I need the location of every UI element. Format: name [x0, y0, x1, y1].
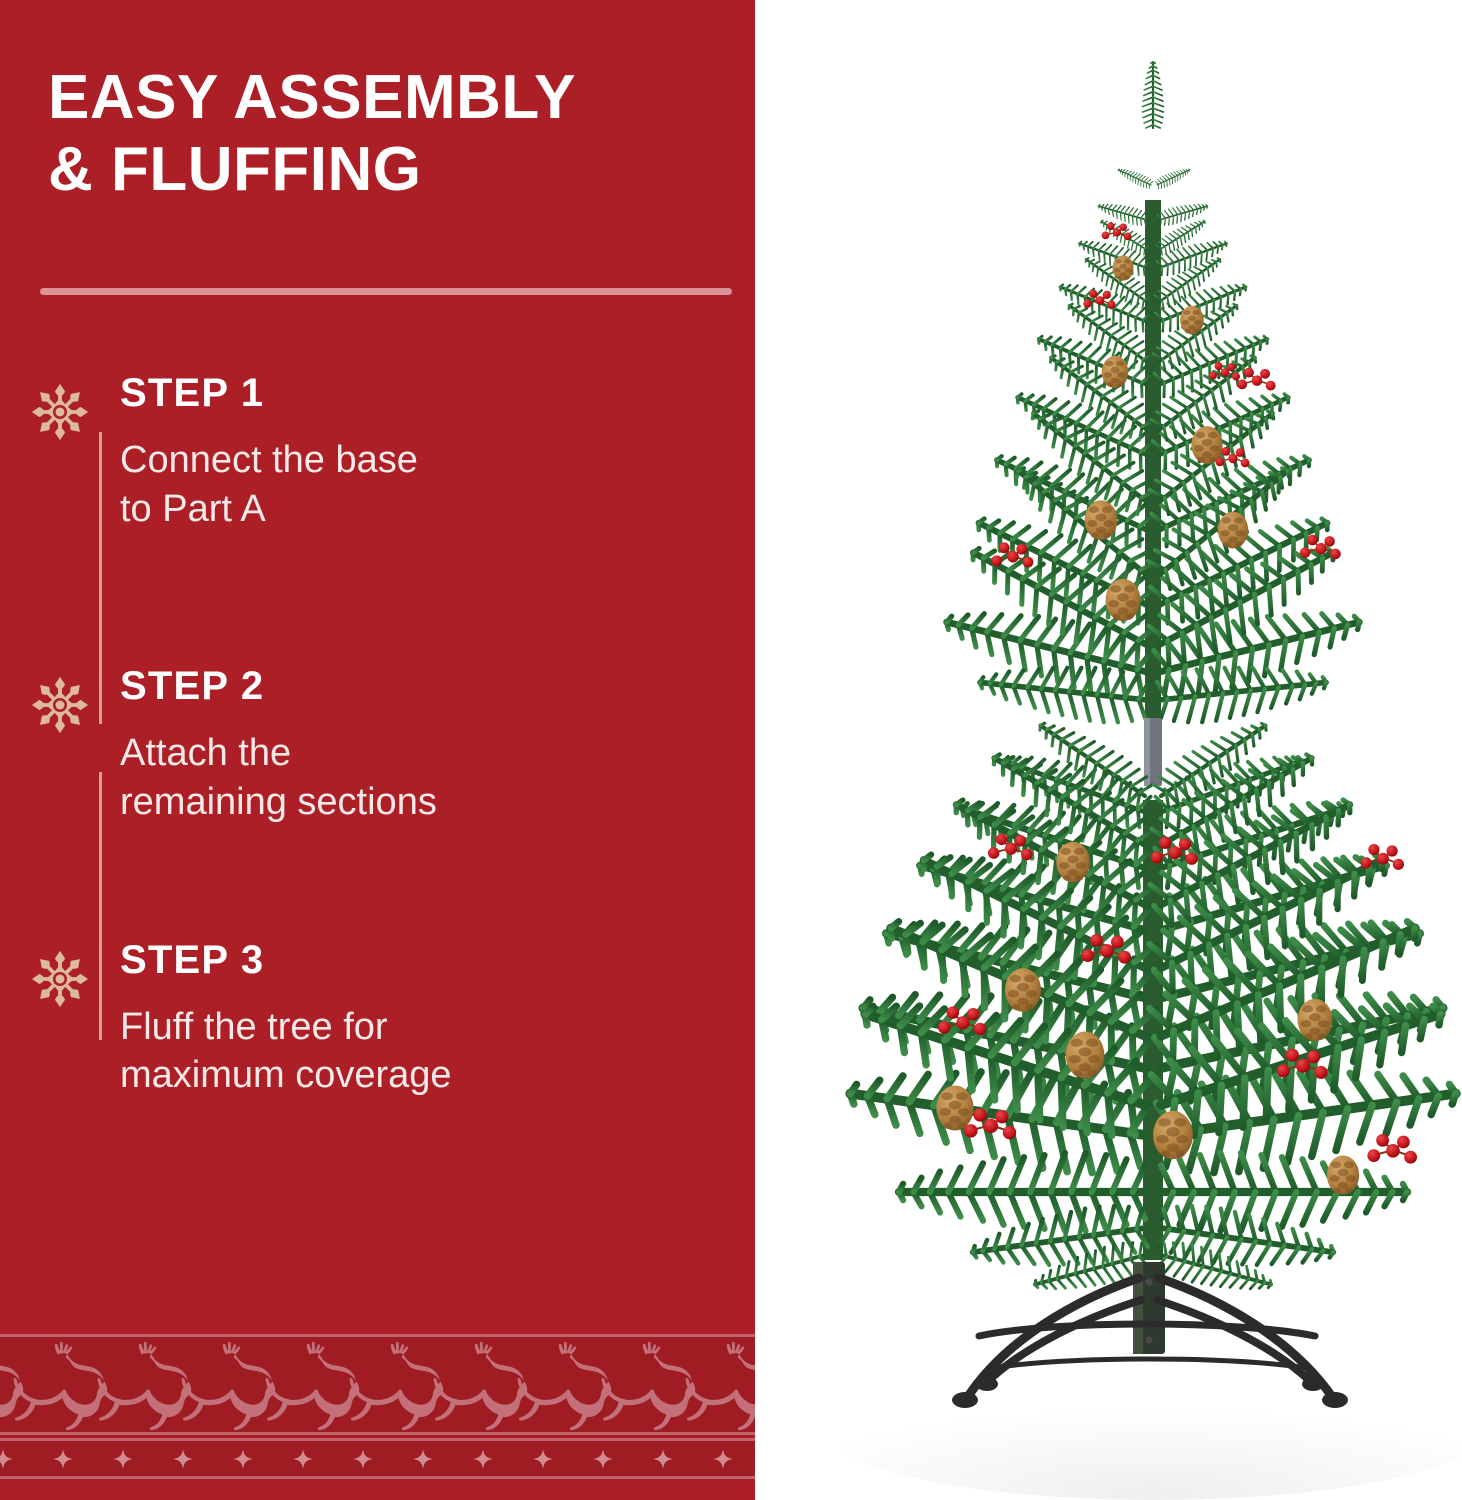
step-connector-line-1: [99, 432, 102, 724]
step-description-3-line-1: Fluff the tree for: [120, 1003, 705, 1052]
title-divider: [40, 288, 732, 295]
snowflake-icon: [28, 380, 92, 444]
snowflake-icon: [28, 947, 92, 1011]
product-image: [755, 0, 1462, 1500]
step-label-2: STEP 2: [120, 665, 705, 707]
step-marker-1: [0, 372, 120, 444]
step-description-2: Attach the remaining sections: [120, 729, 705, 826]
decorative-pattern-band: [0, 1328, 755, 1500]
step-description-3-line-2: maximum coverage: [120, 1051, 705, 1100]
step-description-1: Connect the base to Part A: [120, 436, 705, 533]
step-description-1-line-1: Connect the base: [120, 436, 705, 485]
page-title-line-1: EASY ASSEMBLY: [48, 62, 728, 134]
step-item-2: STEP 2 Attach the remaining sections: [0, 665, 755, 826]
step-body-3: STEP 3 Fluff the tree for maximum covera…: [120, 939, 755, 1100]
step-marker-3: [0, 939, 120, 1011]
instructions-panel: EASY ASSEMBLY & FLUFFING: [0, 0, 755, 1500]
step-item-1: STEP 1 Connect the base to Part A: [0, 372, 755, 533]
step-connector-line-2: [99, 772, 102, 1040]
steps-list: STEP 1 Connect the base to Part A: [0, 372, 755, 1100]
step-item-3: STEP 3 Fluff the tree for maximum covera…: [0, 939, 755, 1100]
step-description-2-line-1: Attach the: [120, 729, 705, 778]
step-marker-2: [0, 665, 120, 737]
step-description-1-line-2: to Part A: [120, 485, 705, 534]
step-description-2-line-2: remaining sections: [120, 778, 705, 827]
step-label-1: STEP 1: [120, 372, 705, 414]
step-body-1: STEP 1 Connect the base to Part A: [120, 372, 755, 533]
step-description-3: Fluff the tree for maximum coverage: [120, 1003, 705, 1100]
snowflake-icon: [28, 673, 92, 737]
step-label-3: STEP 3: [120, 939, 705, 981]
step-body-2: STEP 2 Attach the remaining sections: [120, 665, 755, 826]
page-title-line-2: & FLUFFING: [48, 134, 728, 206]
infographic-canvas: EASY ASSEMBLY & FLUFFING: [0, 0, 1462, 1500]
page-title: EASY ASSEMBLY & FLUFFING: [48, 62, 728, 206]
